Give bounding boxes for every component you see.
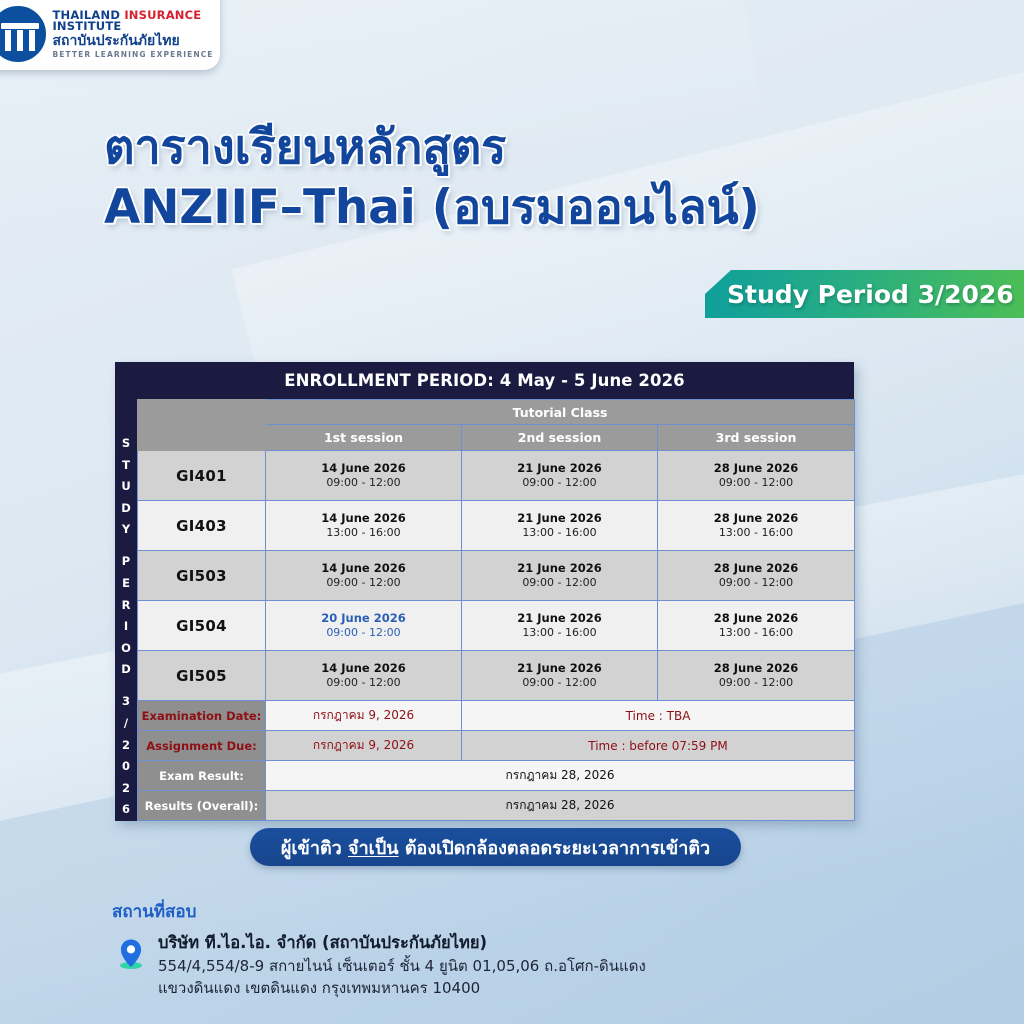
poster-canvas: THAILAND INSURANCE INSTITUTE สถาบันประกั…	[0, 0, 1024, 1024]
session-cell-3: 28 June 202609:00 - 12:00	[658, 551, 855, 601]
summary-label: Exam Result:	[138, 761, 266, 791]
course-code: GI503	[138, 567, 265, 585]
venue-address-line-2: แขวงดินแดง เขตดินแดง กรุงเทพมหานคร 10400	[158, 977, 646, 999]
group-header-spacer	[138, 400, 266, 425]
logo-card: THAILAND INSURANCE INSTITUTE สถาบันประกั…	[0, 0, 220, 70]
study-period-vertical-strip: STUDY PERIOD 3/2026	[115, 399, 137, 821]
vertical-strip-char: S	[122, 433, 130, 455]
page-title: ตารางเรียนหลักสูตร ANZIIF–Thai (อบรมออนไ…	[104, 118, 884, 238]
vertical-strip-char: 0	[122, 756, 130, 778]
session-date: 14 June 2026	[266, 460, 461, 477]
schedule-grid-head: Tutorial Class 1st session 2nd session 3…	[138, 400, 855, 451]
location-pin-wrap	[114, 927, 148, 969]
logo-institute-text: INSTITUTE	[52, 21, 213, 33]
venue-address: บริษัท ที.ไอ.ไอ. จำกัด (สถาบันประกันภัยไ…	[158, 927, 646, 999]
summary-date: กรกฎาคม 9, 2026	[266, 701, 462, 731]
schedule-grid-body: GI40114 June 202609:00 - 12:0021 June 20…	[138, 451, 855, 821]
course-code-cell: GI403	[138, 501, 266, 551]
session-time: 09:00 - 12:00	[658, 576, 854, 591]
course-code: GI403	[138, 517, 265, 535]
summary-date: กรกฎาคม 9, 2026	[266, 731, 462, 761]
vertical-strip-char: E	[122, 573, 130, 595]
title-line-1: ตารางเรียนหลักสูตร	[104, 118, 884, 178]
enrollment-period-text: ENROLLMENT PERIOD: 4 May - 5 June 2026	[284, 371, 685, 390]
vertical-strip-char: P	[122, 551, 130, 573]
session-date: 21 June 2026	[462, 510, 657, 527]
summary-time: Time : TBA	[462, 701, 855, 731]
vertical-strip-char: 3	[122, 691, 130, 713]
venue-address-line-1: 554/4,554/8-9 สกายไนน์ เซ็นเตอร์ ชั้น 4 …	[158, 955, 646, 977]
study-period-banner: Study Period 3/2026	[705, 270, 1024, 318]
session-time: 09:00 - 12:00	[266, 576, 461, 591]
session-time: 13:00 - 16:00	[266, 526, 461, 541]
session-date: 21 June 2026	[462, 560, 657, 577]
schedule-table-card: ENROLLMENT PERIOD: 4 May - 5 June 2026 S…	[115, 362, 854, 821]
vertical-strip-char	[124, 541, 128, 551]
enrollment-period-bar: ENROLLMENT PERIOD: 4 May - 5 June 2026	[115, 362, 854, 399]
study-period-label: Study Period 3/2026	[727, 280, 1014, 309]
vertical-strip-char: T	[122, 455, 130, 477]
cta-suffix: ต้องเปิดกล้องตลอดระยะเวลาการเข้าติว	[399, 838, 711, 859]
session-date: 14 June 2026	[266, 660, 461, 677]
course-code-cell: GI504	[138, 601, 266, 651]
session-time: 09:00 - 12:00	[658, 676, 854, 691]
session-date: 28 June 2026	[658, 510, 854, 527]
session-time: 09:00 - 12:00	[266, 476, 461, 491]
logo-insurance-text: INSURANCE	[124, 8, 201, 22]
camera-requirement-banner: ผู้เข้าติว จำเป็น ต้องเปิดกล้องตลอดระยะเ…	[250, 828, 741, 866]
vertical-strip-char: I	[124, 616, 128, 638]
summary-date: กรกฎาคม 28, 2026	[266, 761, 855, 791]
cta-prefix: ผู้เข้าติว	[281, 838, 348, 859]
vertical-strip-char: /	[124, 713, 128, 735]
logo-thai-name: สถาบันประกันภัยไทย	[52, 34, 213, 48]
session-date: 28 June 2026	[658, 660, 854, 677]
session-time: 09:00 - 12:00	[462, 676, 657, 691]
course-code-cell: GI401	[138, 451, 266, 501]
venue-company-name: บริษัท ที.ไอ.ไอ. จำกัด (สถาบันประกันภัยไ…	[158, 931, 646, 955]
summary-row: Examination Date:กรกฎาคม 9, 2026Time : T…	[138, 701, 855, 731]
summary-label: Results (Overall):	[138, 791, 266, 821]
session-cell-3: 28 June 202609:00 - 12:00	[658, 451, 855, 501]
session-cell-2: 21 June 202613:00 - 16:00	[462, 501, 658, 551]
location-pin-icon	[120, 939, 142, 967]
session-date: 28 June 2026	[658, 460, 854, 477]
session-cell-3: 28 June 202613:00 - 16:00	[658, 501, 855, 551]
session-cell-2: 21 June 202613:00 - 16:00	[462, 601, 658, 651]
session-time: 09:00 - 12:00	[266, 626, 461, 641]
summary-row: Results (Overall):กรกฎาคม 28, 2026	[138, 791, 855, 821]
tii-monogram-icon	[0, 6, 46, 62]
session-cell-1: 14 June 202609:00 - 12:00	[266, 651, 462, 701]
session-date: 28 June 2026	[658, 560, 854, 577]
vertical-strip-char: 6	[122, 799, 130, 821]
session-header-spacer	[138, 425, 266, 451]
logo-wordmark: THAILAND INSURANCE INSTITUTE สถาบันประกั…	[52, 10, 213, 59]
schedule-table-body: STUDY PERIOD 3/2026 Tutorial Class 1st	[115, 399, 854, 821]
session-time: 09:00 - 12:00	[658, 476, 854, 491]
session-cell-1: 14 June 202609:00 - 12:00	[266, 451, 462, 501]
session-cell-2: 21 June 202609:00 - 12:00	[462, 551, 658, 601]
table-row: GI50514 June 202609:00 - 12:0021 June 20…	[138, 651, 855, 701]
summary-time: Time : before 07:59 PM	[462, 731, 855, 761]
cta-emphasis: จำเป็น	[348, 838, 399, 859]
session-date: 28 June 2026	[658, 610, 854, 627]
session-cell-3: 28 June 202613:00 - 16:00	[658, 601, 855, 651]
course-code: GI504	[138, 617, 265, 635]
session-date: 21 June 2026	[462, 660, 657, 677]
vertical-strip-char: D	[121, 498, 131, 520]
summary-label: Assignment Due:	[138, 731, 266, 761]
group-header-row: Tutorial Class	[138, 400, 855, 425]
schedule-grid: Tutorial Class 1st session 2nd session 3…	[137, 399, 855, 821]
session-date: 20 June 2026	[266, 610, 461, 627]
summary-row: Exam Result:กรกฎาคม 28, 2026	[138, 761, 855, 791]
exam-venue-footer: สถานที่สอบ บริษัท ที.ไอ.ไอ. จำกัด (สถาบั…	[112, 898, 812, 999]
session-time: 09:00 - 12:00	[266, 676, 461, 691]
vertical-strip-char: O	[121, 638, 131, 660]
camera-requirement-text: ผู้เข้าติว จำเป็น ต้องเปิดกล้องตลอดระยะเ…	[281, 833, 710, 862]
vertical-strip-char: R	[122, 595, 131, 617]
session-date: 14 June 2026	[266, 560, 461, 577]
course-code-cell: GI505	[138, 651, 266, 701]
session-date: 14 June 2026	[266, 510, 461, 527]
venue-heading: สถานที่สอบ	[112, 898, 812, 925]
session-time: 09:00 - 12:00	[462, 476, 657, 491]
course-code-cell: GI503	[138, 551, 266, 601]
course-code: GI401	[138, 467, 265, 485]
table-row: GI40114 June 202609:00 - 12:0021 June 20…	[138, 451, 855, 501]
session-time: 13:00 - 16:00	[462, 626, 657, 641]
summary-date: กรกฎาคม 28, 2026	[266, 791, 855, 821]
session-time: 09:00 - 12:00	[462, 576, 657, 591]
session-cell-1: 14 June 202609:00 - 12:00	[266, 551, 462, 601]
table-row: GI50420 June 202609:00 - 12:0021 June 20…	[138, 601, 855, 651]
table-row: GI40314 June 202613:00 - 16:0021 June 20…	[138, 501, 855, 551]
session-date: 21 June 2026	[462, 610, 657, 627]
vertical-strip-char: 2	[122, 778, 130, 800]
tutorial-class-header: Tutorial Class	[266, 400, 855, 425]
session-cell-1: 20 June 202609:00 - 12:00	[266, 601, 462, 651]
table-row: GI50314 June 202609:00 - 12:0021 June 20…	[138, 551, 855, 601]
logo: THAILAND INSURANCE INSTITUTE สถาบันประกั…	[0, 6, 214, 62]
summary-row: Assignment Due:กรกฎาคม 9, 2026Time : bef…	[138, 731, 855, 761]
vertical-strip-char: U	[121, 476, 130, 498]
session-time: 13:00 - 16:00	[462, 526, 657, 541]
vertical-strip-char: 2	[122, 735, 130, 757]
session-cell-2: 21 June 202609:00 - 12:00	[462, 651, 658, 701]
summary-label: Examination Date:	[138, 701, 266, 731]
session-cell-2: 21 June 202609:00 - 12:00	[462, 451, 658, 501]
session-cell-3: 28 June 202609:00 - 12:00	[658, 651, 855, 701]
vertical-strip-char: Y	[122, 519, 130, 541]
session-time: 13:00 - 16:00	[658, 526, 854, 541]
course-code: GI505	[138, 667, 265, 685]
session-header-3: 3rd session	[658, 425, 855, 451]
vertical-strip-char: D	[121, 659, 131, 681]
session-time: 13:00 - 16:00	[658, 626, 854, 641]
session-cell-1: 14 June 202613:00 - 16:00	[266, 501, 462, 551]
logo-tagline: BETTER LEARNING EXPERIENCE	[52, 51, 213, 59]
session-date: 21 June 2026	[462, 460, 657, 477]
session-header-row: 1st session 2nd session 3rd session	[138, 425, 855, 451]
vertical-strip-char	[124, 681, 128, 691]
venue-body: บริษัท ที.ไอ.ไอ. จำกัด (สถาบันประกันภัยไ…	[114, 927, 812, 999]
title-line-2: ANZIIF–Thai (อบรมออนไลน์)	[104, 178, 884, 238]
session-header-1: 1st session	[266, 425, 462, 451]
session-header-2: 2nd session	[462, 425, 658, 451]
